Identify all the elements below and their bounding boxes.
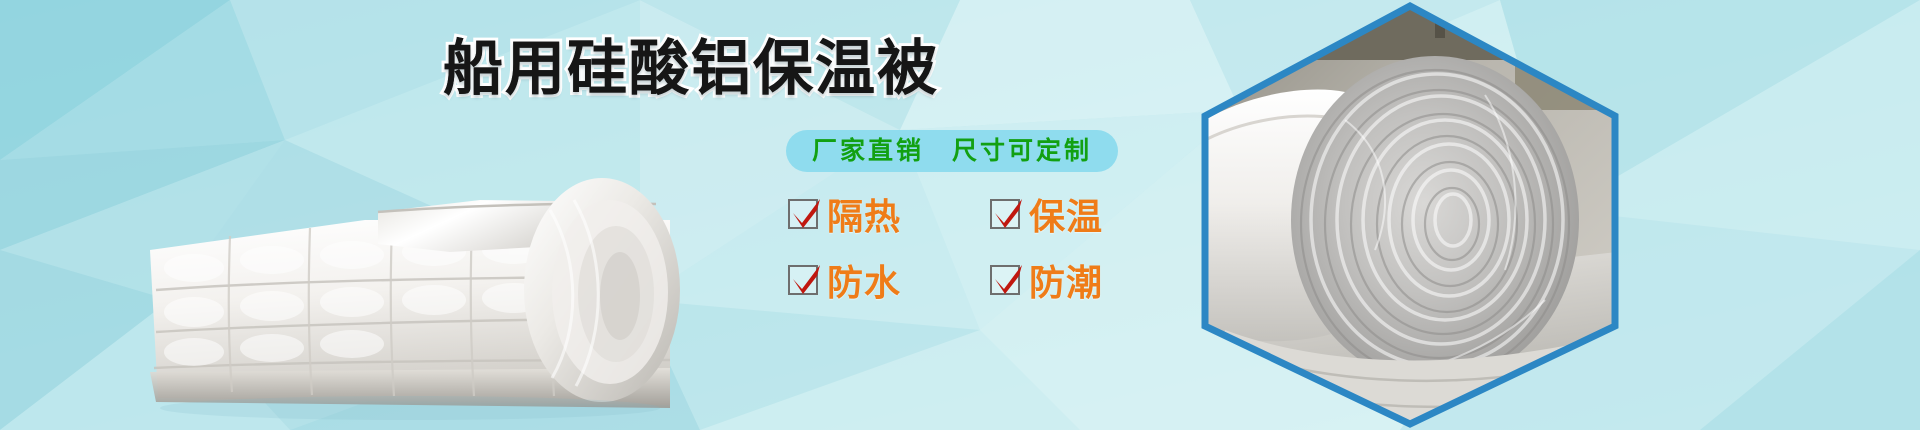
checkbox-checked-icon [788, 199, 818, 229]
promo-banner: 船用硅酸铝保温被 船用硅酸铝保温被 厂家直销 尺寸可定制 隔热 保温 防水 [0, 0, 1920, 430]
checkbox-checked-icon [990, 199, 1020, 229]
feature-label: 防潮 [1029, 254, 1103, 306]
feature-label: 防水 [827, 254, 901, 306]
feature-label: 隔热 [827, 188, 901, 240]
checkbox-checked-icon [788, 265, 818, 295]
checkbox-checked-icon [990, 265, 1020, 295]
feature-label: 保温 [1029, 188, 1103, 240]
feature-list: 隔热 保温 防水 防潮 [788, 188, 1168, 306]
page-title: 船用硅酸铝保温被 [443, 38, 939, 100]
feature-item: 防水 [788, 254, 966, 306]
hexagon-product-photo [1185, 0, 1635, 430]
subtitle-badge: 厂家直销 尺寸可定制 [786, 130, 1118, 172]
product-photo-blanket [150, 140, 680, 430]
feature-item: 保温 [990, 188, 1168, 240]
feature-item: 隔热 [788, 188, 966, 240]
feature-item: 防潮 [990, 254, 1168, 306]
